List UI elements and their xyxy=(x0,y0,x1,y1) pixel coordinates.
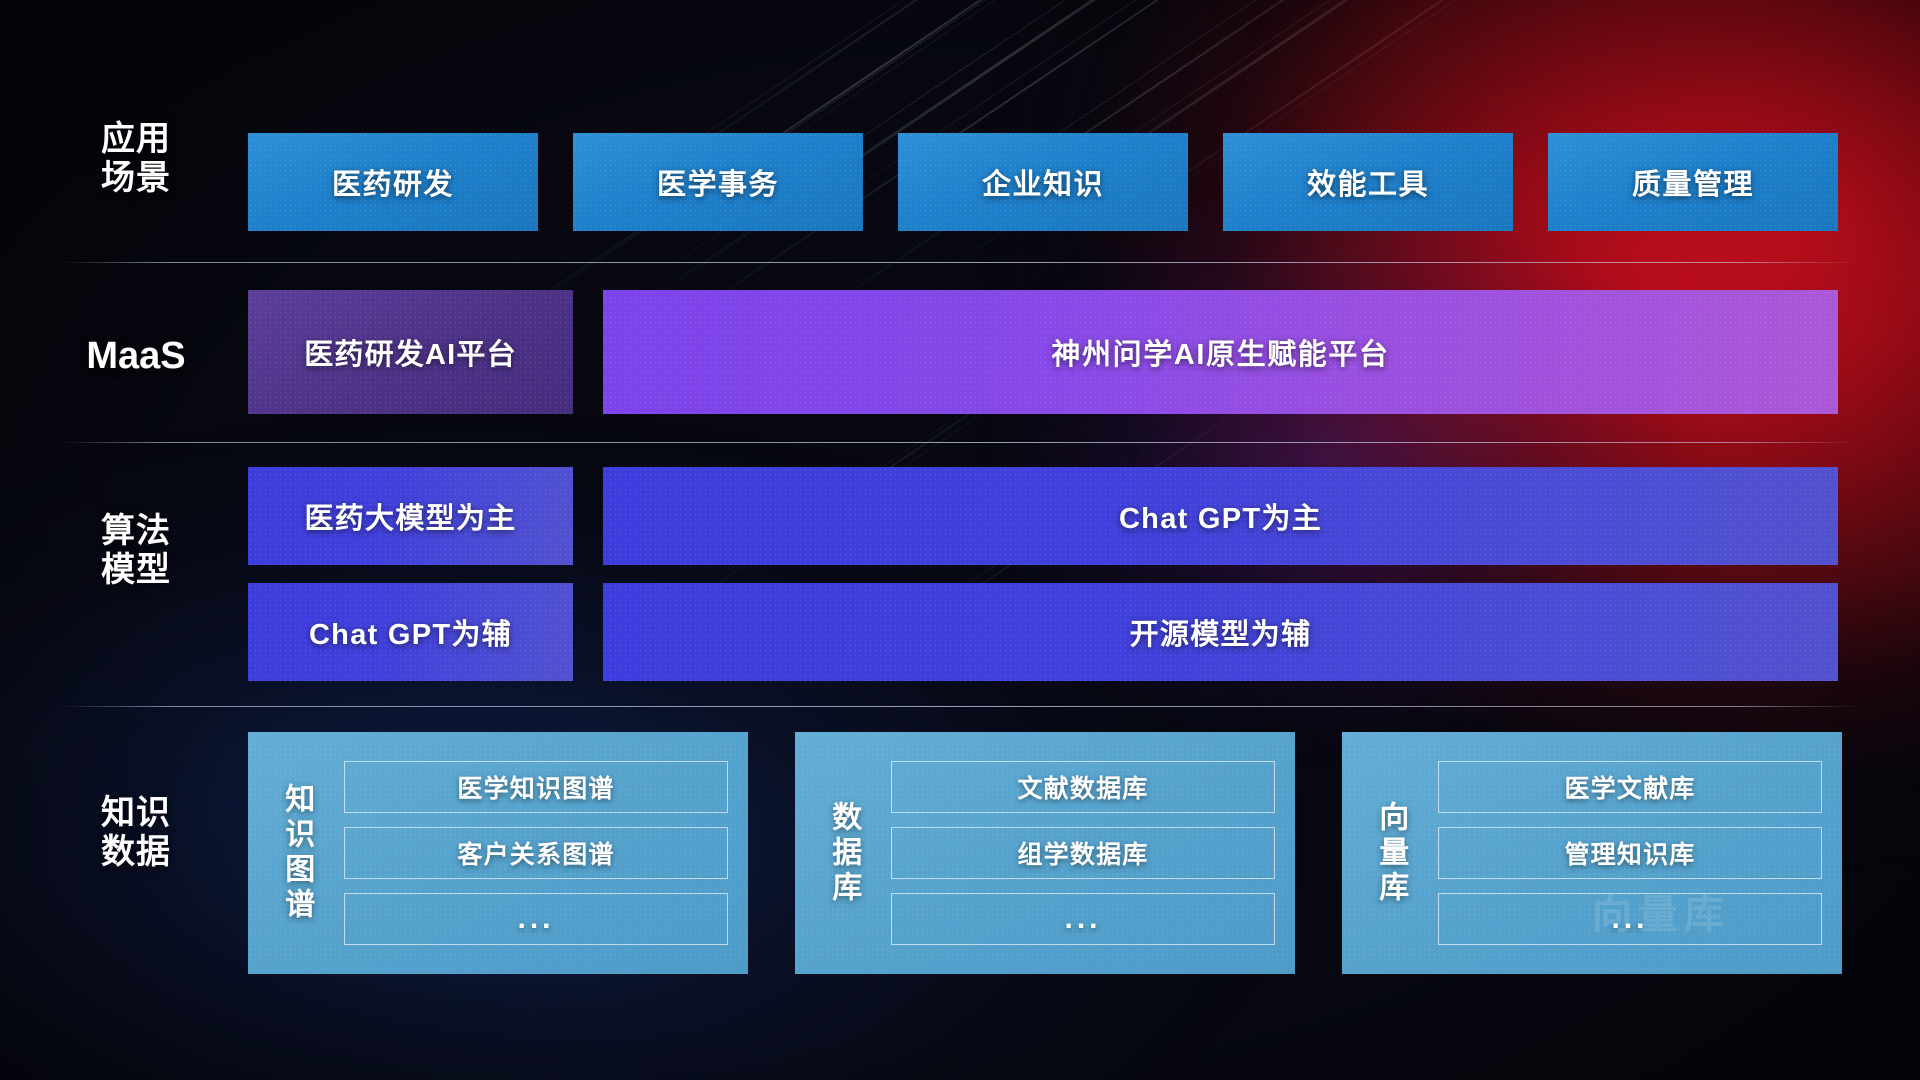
divider-algorithm-knowledge xyxy=(62,706,1858,707)
row-label-application-line2: 场景 xyxy=(62,159,210,198)
maas-wide-box[interactable]: 神州问学AI原生赋能平台 xyxy=(603,290,1838,414)
divider-application-maas xyxy=(62,262,1858,263)
knowledge-group-2-title: 向量库 xyxy=(1342,732,1438,974)
knowledge-group-1-item-0[interactable]: 文献数据库 xyxy=(891,761,1275,813)
knowledge-group-0: 知识图谱 医学知识图谱 客户关系图谱 ... xyxy=(248,732,748,974)
knowledge-group-2: 向量库 向量库 医学文献库 管理知识库 ... xyxy=(1342,732,1842,974)
knowledge-group-1-item-2[interactable]: ... xyxy=(891,893,1275,945)
row-label-algorithm-line1: 算法 xyxy=(62,512,210,551)
diagram-content: 应用 场景 医药研发 医学事务 企业知识 效能工具 质量管理 MaaS 医药研发… xyxy=(0,0,1920,1080)
knowledge-group-0-item-1[interactable]: 客户关系图谱 xyxy=(344,827,728,879)
row-label-algorithm-line2: 模型 xyxy=(62,551,210,590)
app-box-2[interactable]: 企业知识 xyxy=(898,133,1188,231)
divider-maas-algorithm xyxy=(62,442,1858,443)
algorithm-right-box-0[interactable]: Chat GPT为主 xyxy=(603,467,1838,565)
knowledge-group-1: 数据库 文献数据库 组学数据库 ... xyxy=(795,732,1295,974)
algorithm-right-box-1[interactable]: 开源模型为辅 xyxy=(603,583,1838,681)
knowledge-group-0-item-2[interactable]: ... xyxy=(344,893,728,945)
row-label-knowledge-line2: 数据 xyxy=(62,833,210,872)
slide-canvas: 应用 场景 医药研发 医学事务 企业知识 效能工具 质量管理 MaaS 医药研发… xyxy=(0,0,1920,1080)
row-label-application-line1: 应用 xyxy=(62,120,210,159)
app-box-3-label: 效能工具 xyxy=(1307,161,1429,203)
app-box-1-label: 医学事务 xyxy=(657,161,779,203)
app-box-0[interactable]: 医药研发 xyxy=(248,133,538,231)
knowledge-group-1-title: 数据库 xyxy=(795,732,891,974)
knowledge-group-2-item-2[interactable]: ... xyxy=(1438,893,1822,945)
maas-wide-box-label: 神州问学AI原生赋能平台 xyxy=(1051,331,1389,373)
app-box-0-label: 医药研发 xyxy=(332,161,454,203)
app-box-1[interactable]: 医学事务 xyxy=(573,133,863,231)
algorithm-left-box-1-label: Chat GPT为辅 xyxy=(309,611,512,653)
knowledge-group-0-item-0[interactable]: 医学知识图谱 xyxy=(344,761,728,813)
knowledge-group-0-title: 知识图谱 xyxy=(248,732,344,974)
knowledge-group-2-item-1[interactable]: 管理知识库 xyxy=(1438,827,1822,879)
row-label-algorithm: 算法 模型 xyxy=(62,512,210,591)
algorithm-right-box-0-label: Chat GPT为主 xyxy=(1119,495,1322,537)
app-box-4[interactable]: 质量管理 xyxy=(1548,133,1838,231)
knowledge-group-1-items: 文献数据库 组学数据库 ... xyxy=(891,732,1295,974)
maas-left-box[interactable]: 医药研发AI平台 xyxy=(248,290,573,414)
algorithm-left-box-0[interactable]: 医药大模型为主 xyxy=(248,467,573,565)
algorithm-left-box-0-label: 医药大模型为主 xyxy=(304,495,516,537)
algorithm-left-box-1[interactable]: Chat GPT为辅 xyxy=(248,583,573,681)
knowledge-group-2-item-0[interactable]: 医学文献库 xyxy=(1438,761,1822,813)
row-label-knowledge-line1: 知识 xyxy=(62,794,210,833)
maas-left-box-label: 医药研发AI平台 xyxy=(304,331,517,373)
row-label-knowledge: 知识 数据 xyxy=(62,794,210,873)
knowledge-group-2-items: 医学文献库 管理知识库 ... xyxy=(1438,732,1842,974)
row-label-application: 应用 场景 xyxy=(62,120,210,199)
row-label-maas: MaaS xyxy=(62,334,210,378)
app-box-3[interactable]: 效能工具 xyxy=(1223,133,1513,231)
app-box-2-label: 企业知识 xyxy=(982,161,1104,203)
knowledge-group-0-items: 医学知识图谱 客户关系图谱 ... xyxy=(344,732,748,974)
app-box-4-label: 质量管理 xyxy=(1632,161,1754,203)
algorithm-right-box-1-label: 开源模型为辅 xyxy=(1130,611,1312,653)
knowledge-group-1-item-1[interactable]: 组学数据库 xyxy=(891,827,1275,879)
